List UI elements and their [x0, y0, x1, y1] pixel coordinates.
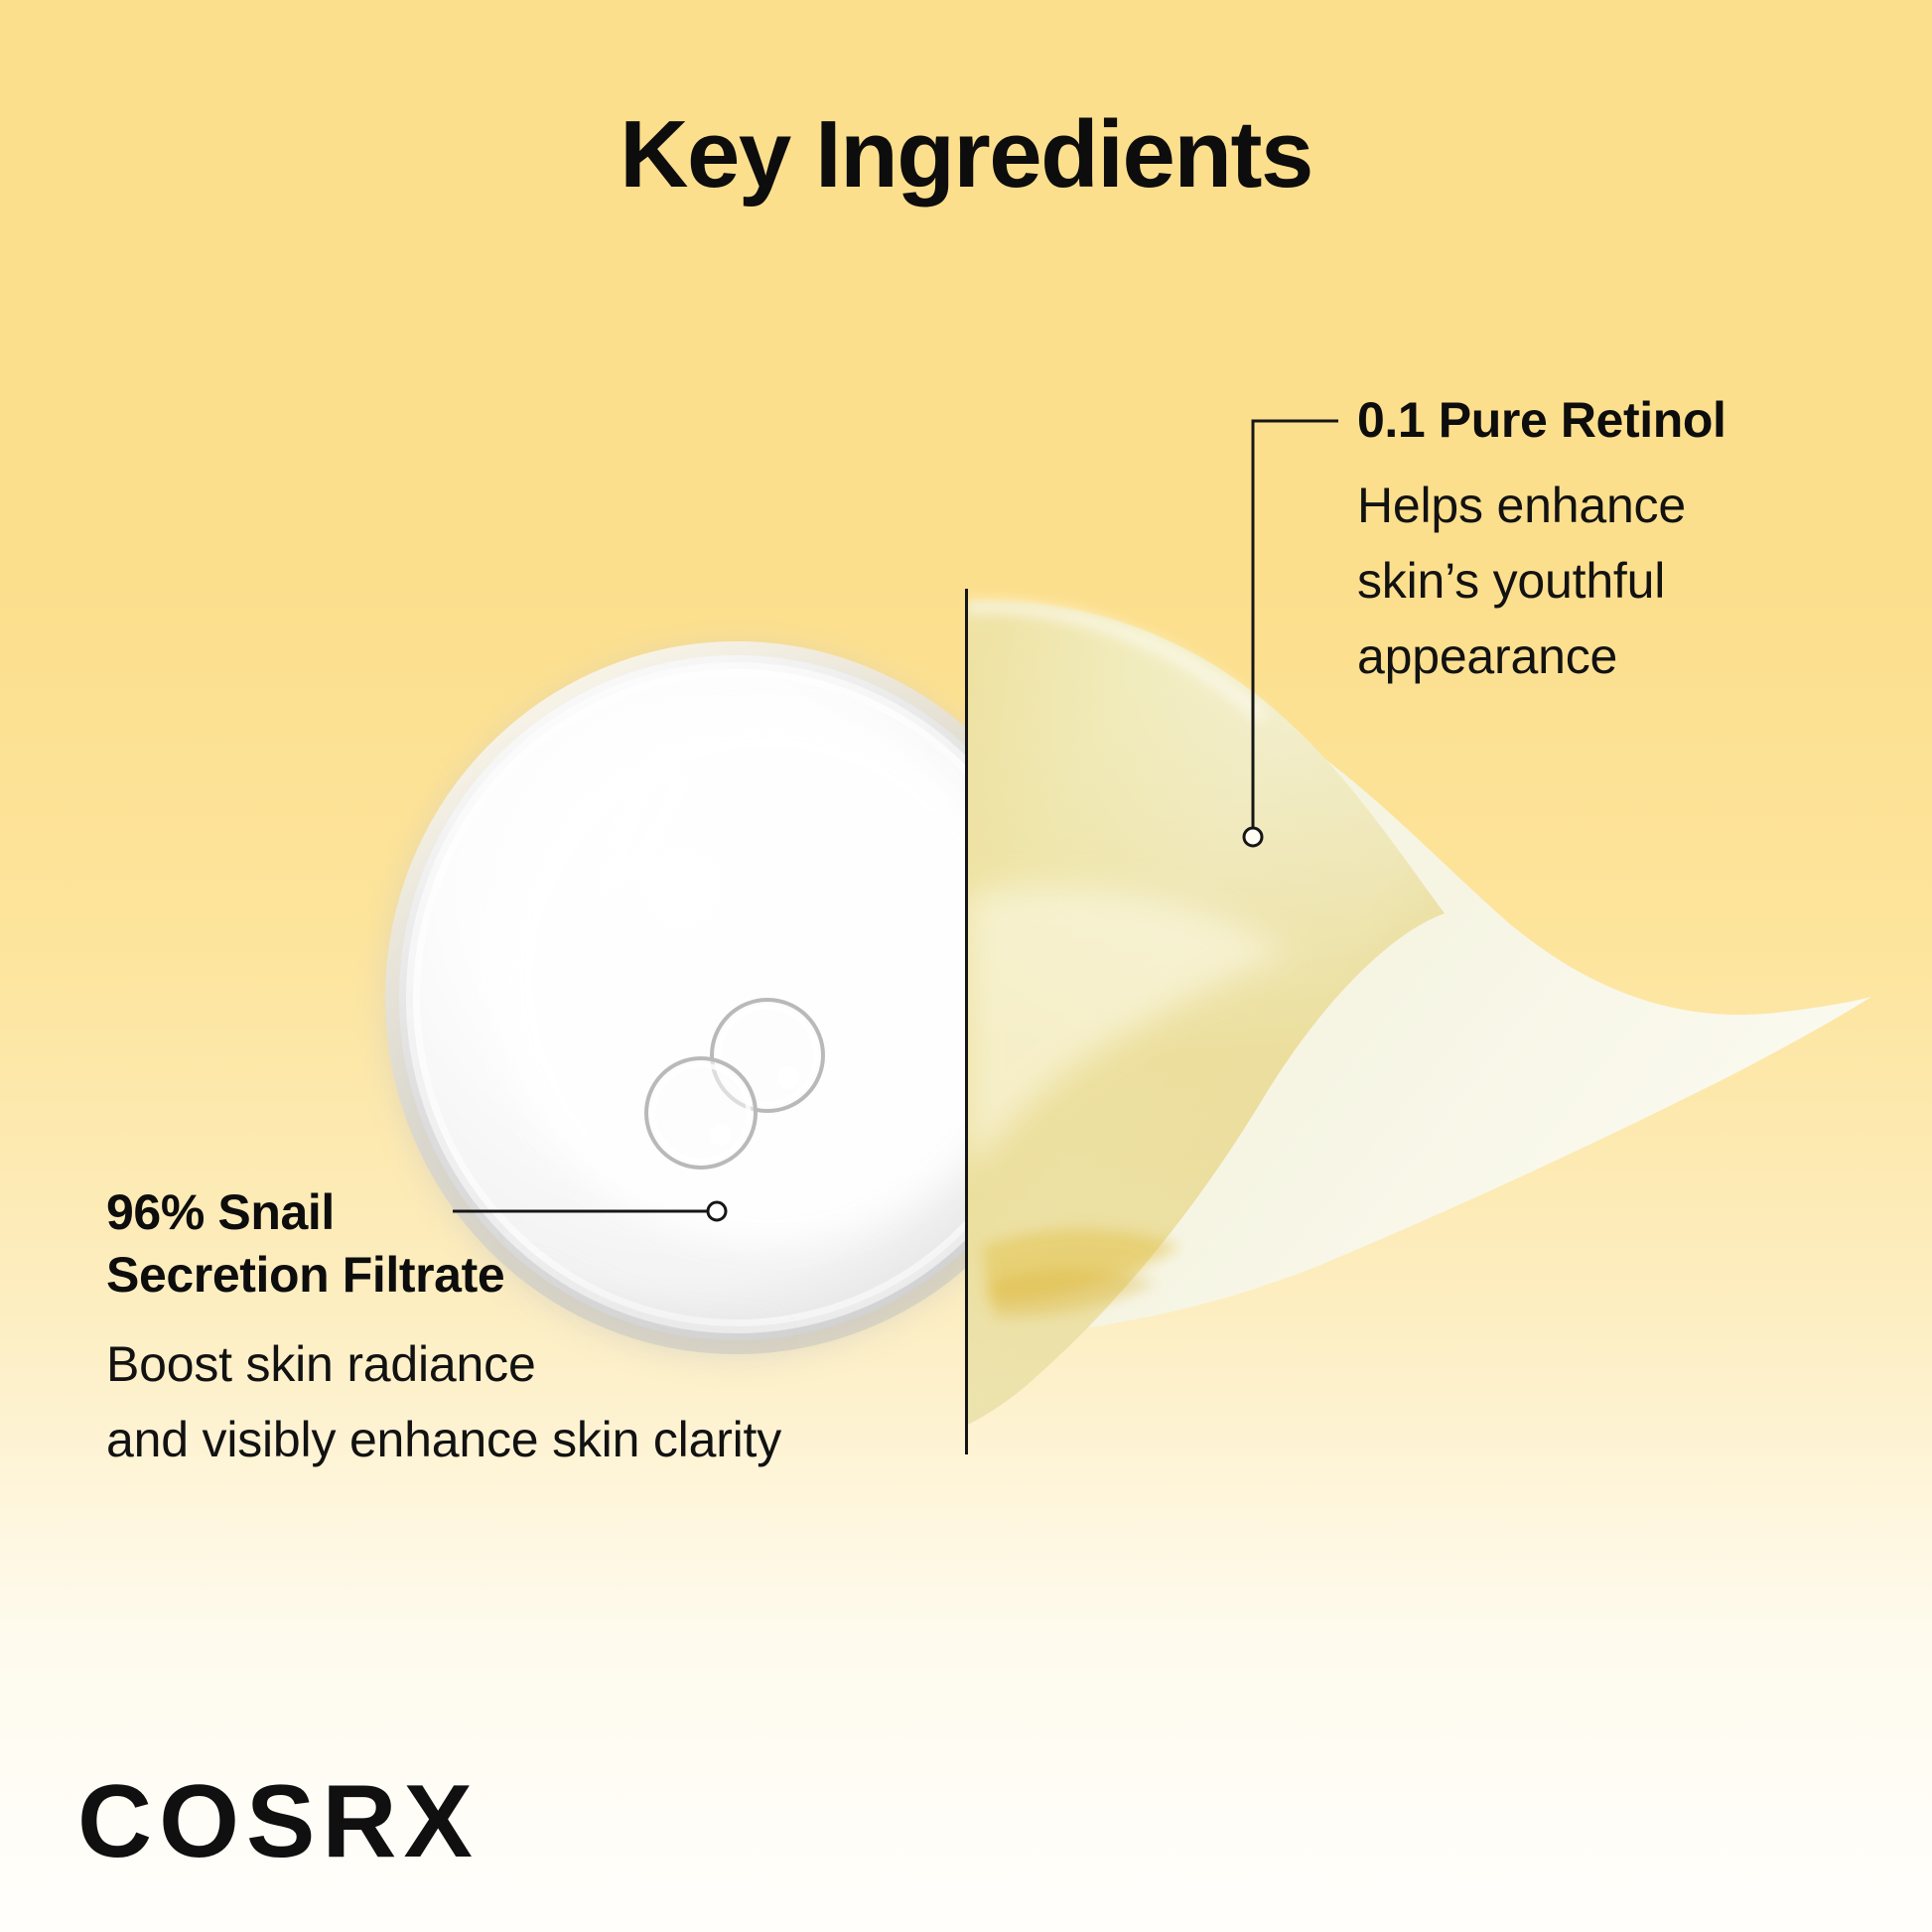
retinol-leader-dot	[1244, 828, 1262, 846]
brand-logo: COSRX	[77, 1770, 480, 1873]
leader-lines	[0, 0, 1932, 1932]
callout-retinol-body: Helps enhance skin’s youthful appearance	[1357, 468, 1893, 694]
callout-retinol-body-line: skin’s youthful	[1357, 543, 1893, 619]
callout-retinol: 0.1 Pure Retinol Helps enhance skin’s yo…	[1357, 389, 1893, 694]
callout-snail-heading-line: 96% Snail	[106, 1181, 900, 1244]
callout-retinol-body-line: Helps enhance	[1357, 468, 1893, 543]
callout-retinol-body-line: appearance	[1357, 619, 1893, 694]
infographic-canvas: Key Ingredients 0.1 Pure Retinol Helps e…	[0, 0, 1932, 1932]
retinol-leader-line	[1244, 421, 1338, 846]
callout-snail-heading: 96% Snail Secretion Filtrate	[106, 1181, 900, 1307]
callout-snail-body-line: Boost skin radiance	[106, 1326, 900, 1402]
callout-retinol-heading: 0.1 Pure Retinol	[1357, 389, 1893, 452]
callout-snail-body: Boost skin radiance and visibly enhance …	[106, 1326, 900, 1477]
callout-snail: 96% Snail Secretion Filtrate Boost skin …	[106, 1181, 900, 1477]
callout-snail-body-line: and visibly enhance skin clarity	[106, 1402, 900, 1477]
callout-snail-heading-line: Secretion Filtrate	[106, 1244, 900, 1307]
